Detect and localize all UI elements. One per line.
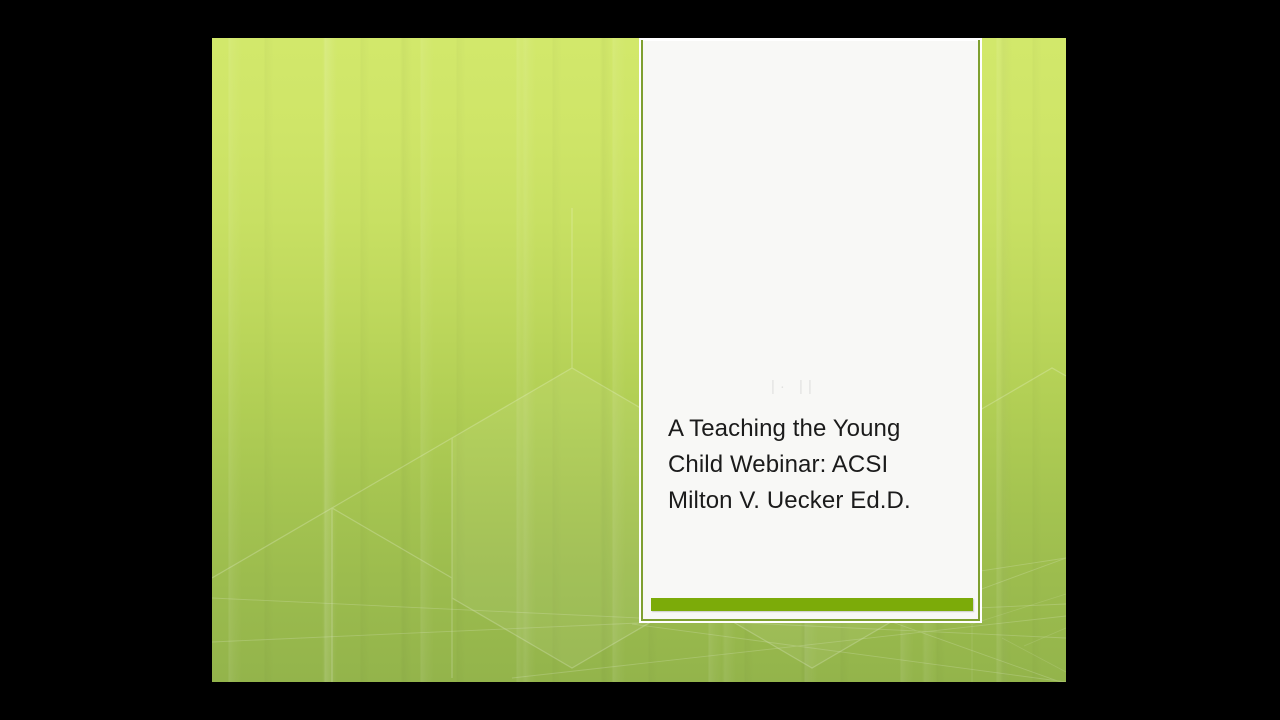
video-viewport: What Every Child Needs: The Importance o…: [0, 0, 1280, 720]
presentation-slide: What Every Child Needs: The Importance o…: [212, 38, 1066, 682]
slide-accent-bar: [651, 598, 973, 611]
slide-content-panel-inner: |· || A Teaching the Young Child Webinar…: [641, 40, 980, 621]
panel-top-edge: [643, 40, 978, 41]
slide-byline: A Teaching the Young Child Webinar: ACSI…: [668, 411, 968, 519]
faint-placeholder-mark: |· ||: [771, 378, 817, 396]
slide-content-panel: |· || A Teaching the Young Child Webinar…: [639, 38, 982, 623]
